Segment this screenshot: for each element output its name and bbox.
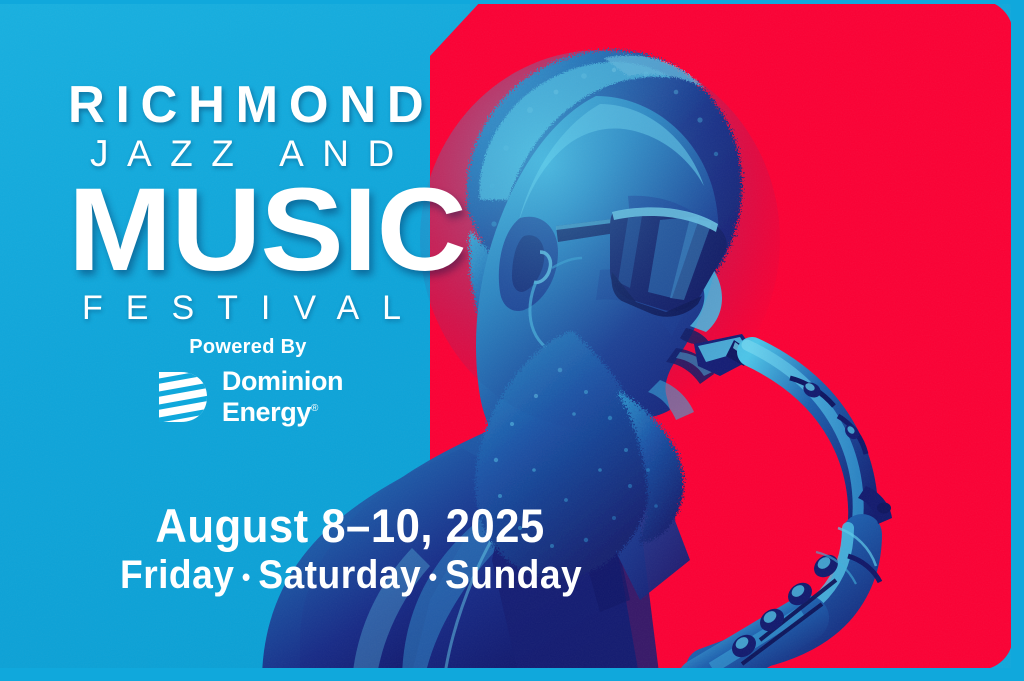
dominion-energy-wordmark: Dominion Energy® — [222, 368, 343, 426]
poster-frame-top — [0, 0, 1024, 4]
dominion-energy-logo: Dominion Energy® — [68, 368, 428, 426]
sponsor-name-line2: Energy — [222, 397, 311, 427]
event-days-list: Friday•Saturday•Sunday — [120, 552, 511, 600]
event-date-range: August 8–10, 2025 — [120, 500, 511, 552]
powered-by-label: Powered By — [68, 336, 428, 359]
day-saturday: Saturday — [258, 553, 421, 597]
day-separator-1: • — [234, 562, 258, 592]
dominion-energy-logo-mark — [153, 368, 211, 426]
sponsor-name-line1: Dominion — [222, 366, 343, 396]
day-sunday: Sunday — [445, 553, 582, 597]
title-line-music: MUSIC — [68, 178, 566, 282]
sponsor-block: Powered By — [68, 336, 428, 426]
title-line-richmond: RICHMOND — [68, 78, 529, 132]
event-poster: RICHMOND JAZZ AND MUSIC FESTIVAL Powered… — [0, 0, 1024, 681]
poster-frame-bottom — [0, 668, 1024, 681]
event-dates-block: August 8–10, 2025 Friday•Saturday•Sunday — [120, 500, 540, 600]
day-separator-2: • — [421, 562, 445, 592]
festival-title-block: RICHMOND JAZZ AND MUSIC FESTIVAL — [68, 78, 538, 328]
registered-trademark-symbol: ® — [311, 403, 318, 414]
poster-frame-right — [1011, 0, 1024, 681]
day-friday: Friday — [120, 553, 234, 597]
